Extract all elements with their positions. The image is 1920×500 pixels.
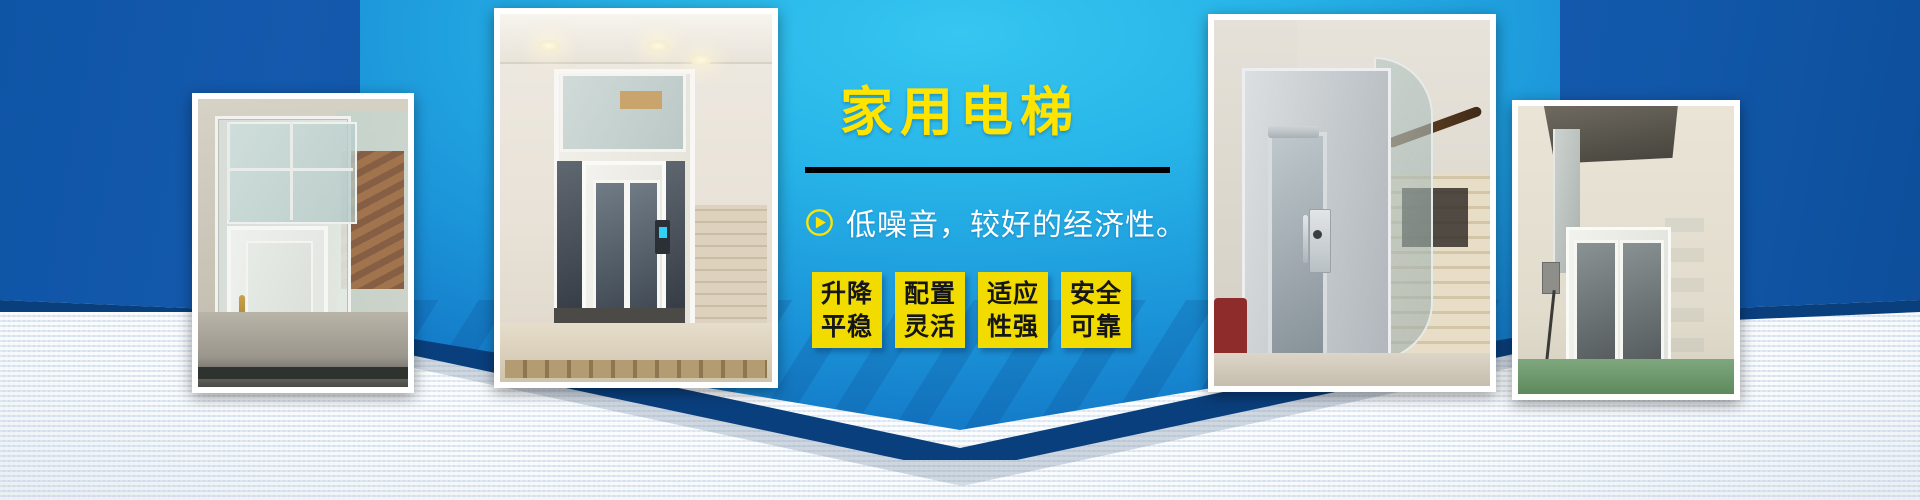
badge-line-2: 平稳 (821, 310, 873, 343)
banner-text-content: 家用电梯 低噪音，较好的经济性。 升降 平稳 配置 灵活 适应 性强 (0, 0, 1920, 500)
badge-line-1: 配置 (904, 277, 956, 310)
page-title: 家用电梯 (760, 82, 1160, 144)
badge-line-2: 可靠 (1070, 310, 1122, 343)
badge-line-1: 安全 (1070, 277, 1122, 310)
feature-badge: 配置 灵活 (895, 272, 965, 348)
circle-play-arrow-icon (805, 208, 834, 237)
feature-badge: 适应 性强 (978, 272, 1048, 348)
tagline-text: 低噪音，较好的经济性。 (846, 200, 1187, 244)
feature-badge: 安全 可靠 (1061, 272, 1131, 348)
feature-badge-list: 升降 平稳 配置 灵活 适应 性强 安全 可靠 (812, 272, 1131, 348)
badge-line-2: 性强 (987, 310, 1039, 343)
home-elevator-banner: 家用电梯 低噪音，较好的经济性。 升降 平稳 配置 灵活 适应 性强 (0, 0, 1920, 500)
badge-line-2: 灵活 (904, 310, 956, 343)
badge-line-1: 升降 (821, 277, 873, 310)
title-divider (805, 167, 1170, 173)
badge-line-1: 适应 (987, 277, 1039, 310)
tagline-row: 低噪音，较好的经济性。 (805, 200, 1205, 244)
feature-badge: 升降 平稳 (812, 272, 882, 348)
